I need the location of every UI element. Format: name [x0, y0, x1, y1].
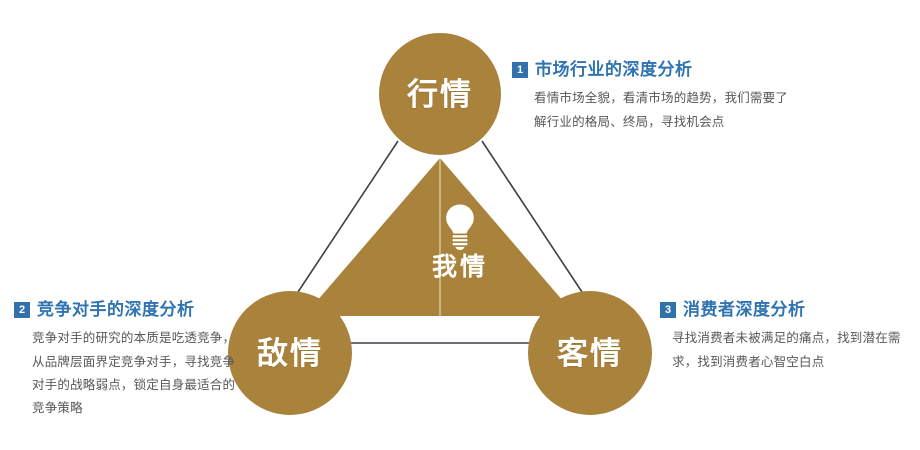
- heading-text-3: 消费者深度分析: [683, 300, 806, 320]
- info-block-3: 3 消费者深度分析 寻找消费者未被满足的痛点，找到潜在需求，找到消费者心智空白点: [660, 300, 910, 374]
- badge-number-3: 3: [660, 302, 676, 318]
- heading-text-2: 竞争对手的深度分析: [37, 300, 195, 320]
- info-body-3: 寻找消费者未被满足的痛点，找到潜在需求，找到消费者心智空白点: [672, 327, 907, 373]
- info-body-1: 看情市场全貌，看清市场的趋势，我们需要了解行业的格局、终局，寻找机会点: [534, 87, 799, 133]
- diagram-page: 行情 敌情 客情 我情 1 市场行业的深度分析 看情市场全貌，看清市场的趋势，我…: [0, 0, 920, 450]
- node-label-top: 行情: [407, 79, 473, 110]
- info-body-2: 竞争对手的研究的本质是吃透竞争，从品牌层面界定竞争对手，寻找竞争对手的战略弱点，…: [32, 327, 237, 420]
- info-heading-2: 2 竞争对手的深度分析: [14, 300, 244, 320]
- node-label-left: 敌情: [257, 338, 323, 369]
- node-circle-top[interactable]: 行情: [379, 33, 501, 155]
- node-circle-left[interactable]: 敌情: [228, 291, 352, 415]
- info-heading-1: 1 市场行业的深度分析: [512, 60, 812, 80]
- info-block-1: 1 市场行业的深度分析 看情市场全貌，看清市场的趋势，我们需要了解行业的格局、终…: [512, 60, 812, 134]
- heading-text-1: 市场行业的深度分析: [535, 60, 693, 80]
- info-block-2: 2 竞争对手的深度分析 竞争对手的研究的本质是吃透竞争，从品牌层面界定竞争对手，…: [14, 300, 244, 420]
- badge-number-2: 2: [14, 302, 30, 318]
- node-label-right: 客情: [557, 338, 623, 369]
- info-heading-3: 3 消费者深度分析: [660, 300, 910, 320]
- badge-number-1: 1: [512, 62, 528, 78]
- node-circle-right[interactable]: 客情: [528, 291, 652, 415]
